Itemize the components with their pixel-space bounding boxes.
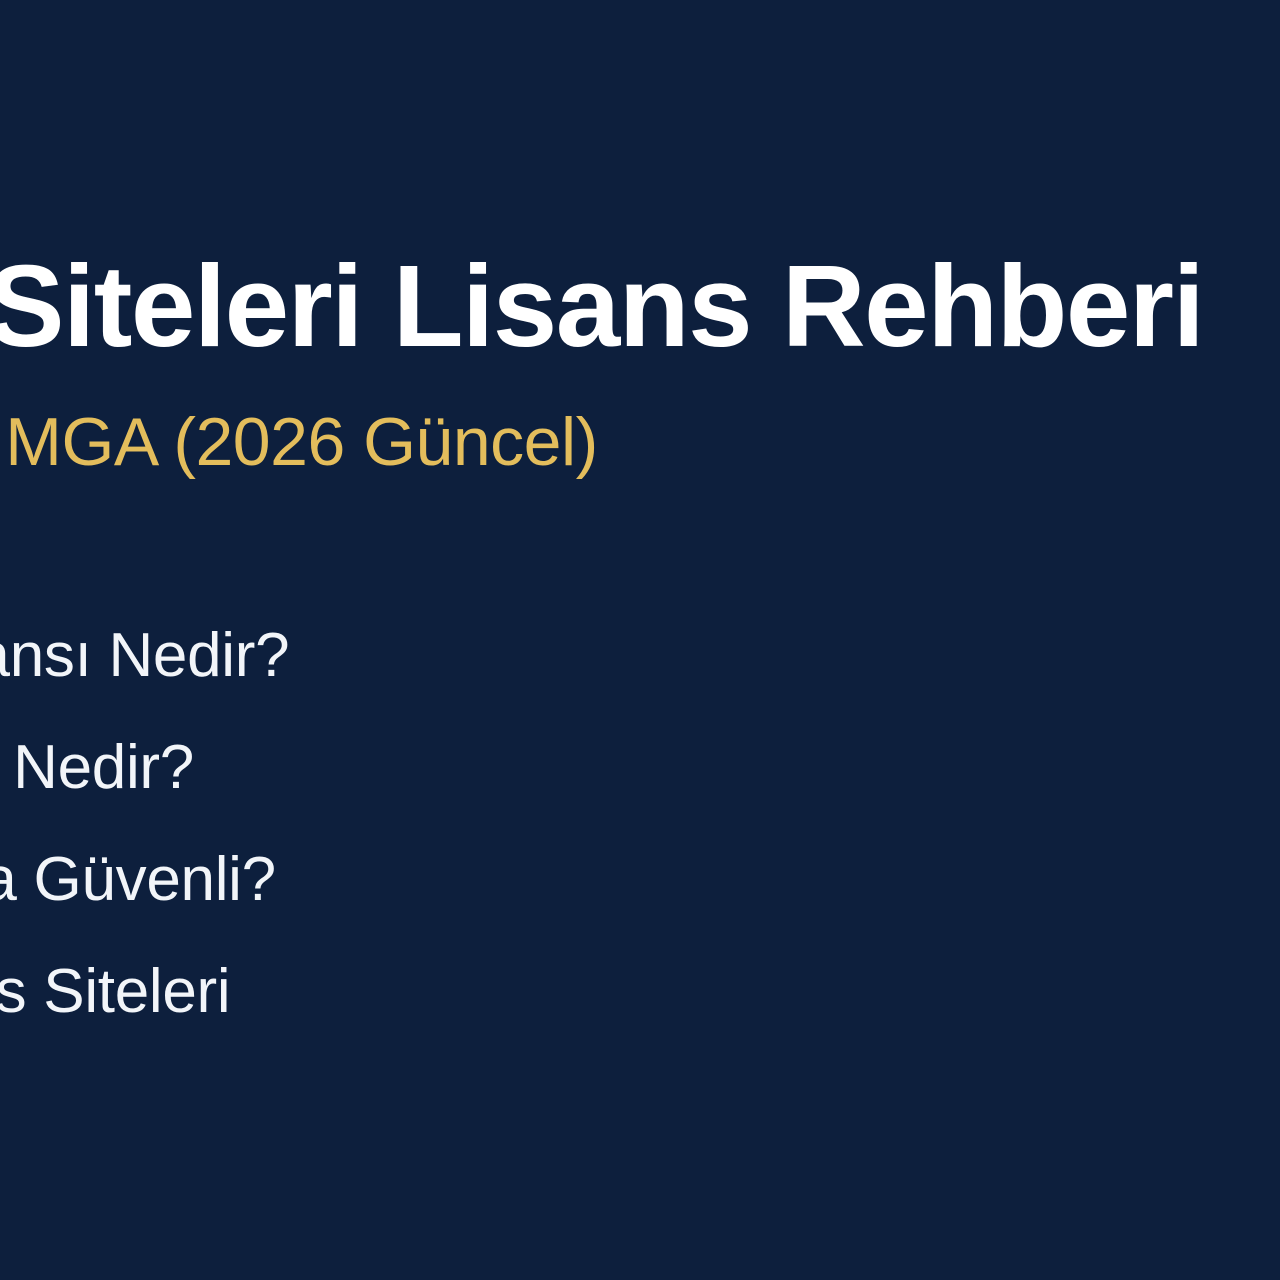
slide-canvas: Bahis Siteleri Lisans Rehberi Curacao vs… bbox=[0, 0, 1280, 1280]
headline-block: Bahis Siteleri Lisans Rehberi Curacao vs… bbox=[0, 248, 1280, 476]
list-item: Lisanslı Bahis Siteleri bbox=[0, 936, 1280, 1048]
topic-list: Curacao Lisansı Nedir? MGA Lisansı Nedir… bbox=[0, 600, 1280, 1048]
page-title: Bahis Siteleri Lisans Rehberi bbox=[0, 248, 1280, 364]
list-item-label: Hangisi Daha Güvenli? bbox=[0, 849, 276, 911]
list-item-label: MGA Lisansı Nedir? bbox=[0, 737, 194, 799]
list-item-label: Lisanslı Bahis Siteleri bbox=[0, 961, 230, 1023]
list-item: Hangisi Daha Güvenli? bbox=[0, 824, 1280, 936]
page-subtitle: Curacao vs MGA (2026 Güncel) bbox=[0, 408, 1280, 476]
list-item: MGA Lisansı Nedir? bbox=[0, 712, 1280, 824]
list-item: Curacao Lisansı Nedir? bbox=[0, 600, 1280, 712]
list-item-label: Curacao Lisansı Nedir? bbox=[0, 625, 289, 687]
